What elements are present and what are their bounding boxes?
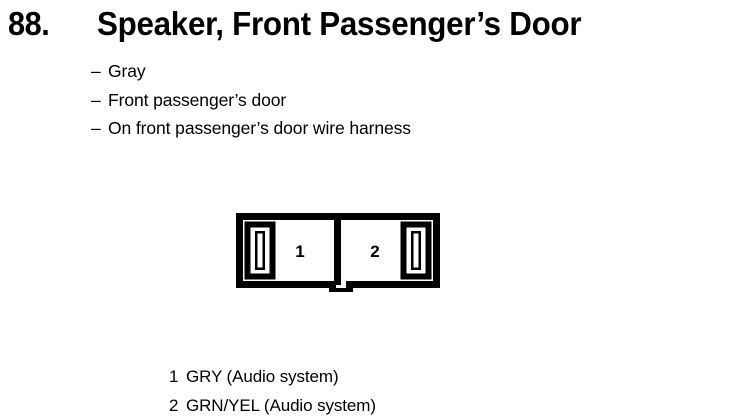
- list-item-label: Front passenger’s door: [108, 90, 286, 110]
- cavity-number-2: 2: [370, 242, 379, 261]
- legend-row: 1GRY (Audio system): [169, 362, 569, 391]
- legend-pin-description: GRN/YEL (Audio system): [186, 396, 376, 415]
- cavity-divider-wall: [334, 216, 341, 285]
- item-number: 88.: [8, 4, 49, 44]
- page-title: 88. Speaker, Front Passenger’s Door: [0, 4, 736, 46]
- dash-bullet-icon: –: [91, 86, 108, 115]
- dash-bullet-icon: –: [91, 57, 108, 86]
- list-item-label: On front passenger’s door wire harness: [108, 118, 411, 138]
- legend-pin-description: GRY (Audio system): [186, 367, 339, 386]
- left-latch-slot-void: [258, 234, 263, 268]
- connector-face-svg: 1 2: [236, 212, 440, 292]
- legend-row: 2GRN/YEL (Audio system): [169, 391, 569, 420]
- dash-bullet-icon: –: [91, 114, 108, 143]
- component-title: Speaker, Front Passenger’s Door: [97, 4, 581, 44]
- connector-diagram: 1 2: [236, 212, 440, 292]
- list-item-label: Gray: [108, 61, 146, 81]
- list-item: –On front passenger’s door wire harness: [91, 114, 651, 143]
- attribute-list: –Gray –Front passenger’s door –On front …: [91, 57, 651, 143]
- cavity-number-1: 1: [295, 242, 304, 261]
- list-item: –Gray: [91, 57, 651, 86]
- legend-pin-number: 2: [169, 391, 186, 420]
- legend-pin-number: 1: [169, 362, 186, 391]
- pin-legend: 1GRY (Audio system) 2GRN/YEL (Audio syst…: [169, 362, 569, 420]
- right-latch-slot-void: [414, 234, 419, 268]
- list-item: –Front passenger’s door: [91, 86, 651, 115]
